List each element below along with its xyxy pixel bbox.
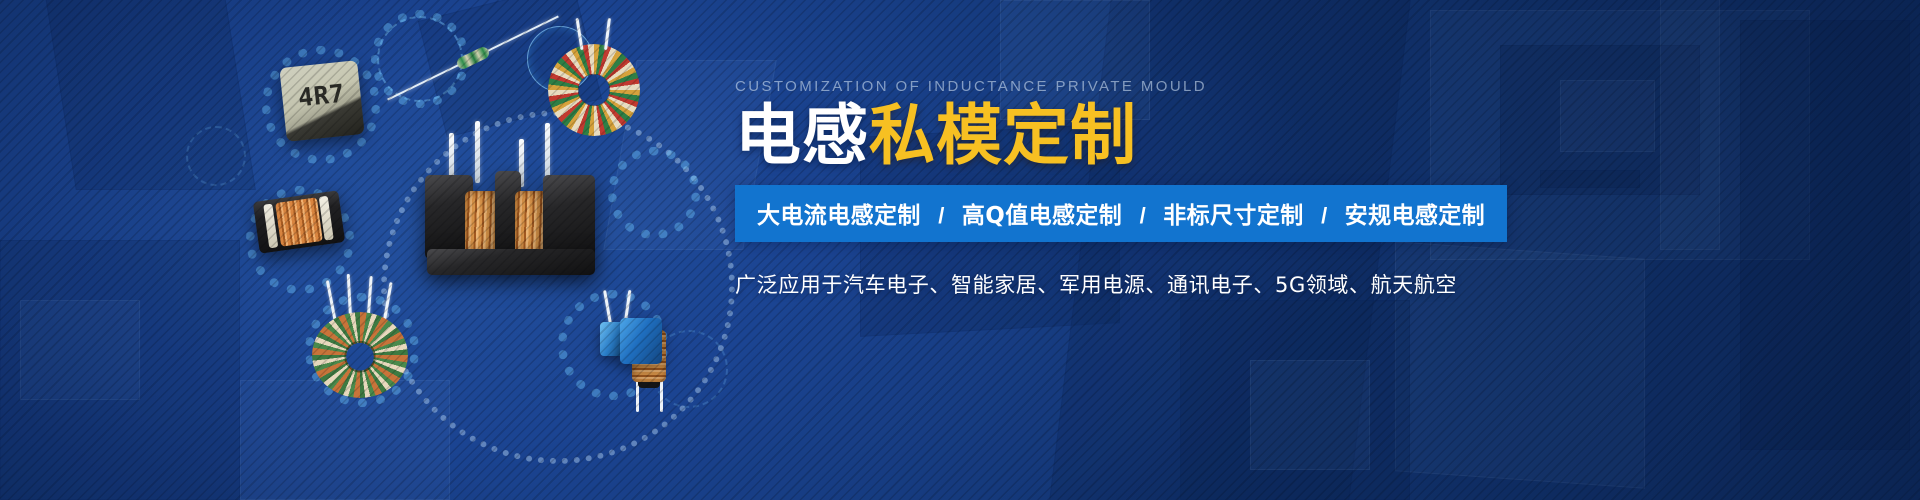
product-ee-core-choke: [415, 137, 615, 287]
feature-separator-1: /: [925, 203, 957, 228]
headline-yellow-text: 私模定制: [869, 97, 1137, 174]
headline-white-text: 电感: [735, 97, 869, 174]
toroid-inductor-body: [548, 44, 640, 136]
choke-left-copper-winding: [275, 197, 323, 246]
rod-choke-pin-2: [660, 378, 663, 412]
ee-choke-pin-2: [475, 121, 480, 183]
feature-separator-2: /: [1127, 203, 1159, 228]
feature-item-4: 安规电感定制: [1345, 203, 1485, 229]
product-smd-inductor: 4R7: [283, 64, 361, 138]
banner-copy-block: CUSTOMIZATION OF INDUCTANCE PRIVATE MOUL…: [735, 78, 1435, 299]
english-subtitle: CUSTOMIZATION OF INDUCTANCE PRIVATE MOUL…: [735, 78, 1435, 95]
feature-item-2: 高Q值电感定制: [962, 203, 1122, 229]
feature-separator-3: /: [1308, 203, 1340, 228]
hud-ring-rod-tick: [608, 147, 700, 239]
product-green-toroid: [312, 312, 408, 398]
application-tagline: 广泛应用于汽车电子、智能家居、军用电源、通讯电子、5G领域、航天航空: [735, 269, 1435, 299]
feature-item-1: 大电流电感定制: [757, 203, 921, 229]
page-title: 电感私模定制: [735, 101, 1435, 171]
hud-ring-outer-faint: [186, 126, 246, 186]
feature-bar: 大电流电感定制 / 高Q值电感定制 / 非标尺寸定制 / 安规电感定制: [735, 185, 1507, 242]
product-toroid-colour: [548, 44, 640, 136]
feature-item-3: 非标尺寸定制: [1163, 203, 1303, 229]
blue-inductor-body: [620, 318, 662, 364]
promo-banner: 4R7: [0, 0, 1920, 500]
green-toroid-body: [312, 312, 408, 398]
smd-inductor-marking: 4R7: [297, 78, 346, 112]
smd-inductor-body: 4R7: [279, 60, 364, 142]
ee-choke-base: [427, 249, 595, 275]
